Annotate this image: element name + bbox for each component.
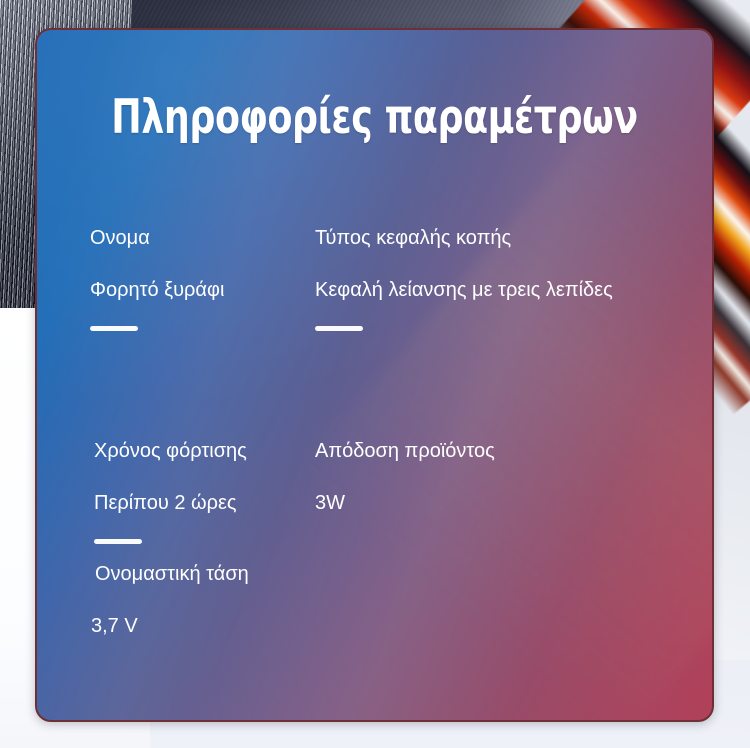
spec-row: Ονομα Φορητό ξυράφι Τύπος κεφαλής κοπής …: [37, 226, 714, 331]
page-title: Πληροφορίες παραμέτρων: [84, 90, 665, 145]
spec-label: Χρόνος φόρτισης: [94, 439, 302, 463]
spec-value: Φορητό ξυράφι: [90, 278, 302, 302]
spec-value: Κεφαλή λείανσης με τρεις λεπίδες: [315, 278, 702, 302]
spec-group-spacer: [37, 544, 714, 562]
spec-label: Ονομα: [90, 226, 302, 250]
spec-grid: Ονομα Φορητό ξυράφι Τύπος κεφαλής κοπής …: [37, 226, 714, 638]
spec-row: Ονομαστική τάση 3,7 V: [37, 562, 714, 638]
spec-cell-charging-time: Χρόνος φόρτισης Περίπου 2 ώρες: [37, 439, 302, 544]
spec-row: Χρόνος φόρτισης Περίπου 2 ώρες Απόδοση π…: [37, 439, 714, 544]
spec-cell-product-output: Απόδοση προϊόντος 3W: [302, 439, 702, 544]
spec-label: Ονομαστική τάση: [95, 562, 302, 586]
spec-cell-rated-voltage: Ονομαστική τάση 3,7 V: [37, 562, 302, 638]
spec-cell-empty: [302, 562, 702, 638]
parameter-info-card: Πληροφορίες παραμέτρων Ονομα Φορητό ξυρά…: [35, 28, 714, 722]
spec-divider: [94, 539, 142, 544]
spec-label: Τύπος κεφαλής κοπής: [315, 226, 702, 250]
spec-value: 3,7 V: [91, 614, 302, 638]
spec-divider: [315, 326, 363, 331]
spec-cell-name: Ονομα Φορητό ξυράφι: [37, 226, 302, 331]
spec-divider: [90, 326, 138, 331]
spec-cell-cutting-head-type: Τύπος κεφαλής κοπής Κεφαλή λείανσης με τ…: [302, 226, 702, 331]
spec-value: 3W: [315, 491, 702, 515]
spec-value: Περίπου 2 ώρες: [94, 491, 302, 515]
spec-group-spacer: [37, 331, 714, 439]
spec-label: Απόδοση προϊόντος: [315, 439, 702, 463]
product-spec-banner: Πληροφορίες παραμέτρων Ονομα Φορητό ξυρά…: [0, 0, 750, 748]
